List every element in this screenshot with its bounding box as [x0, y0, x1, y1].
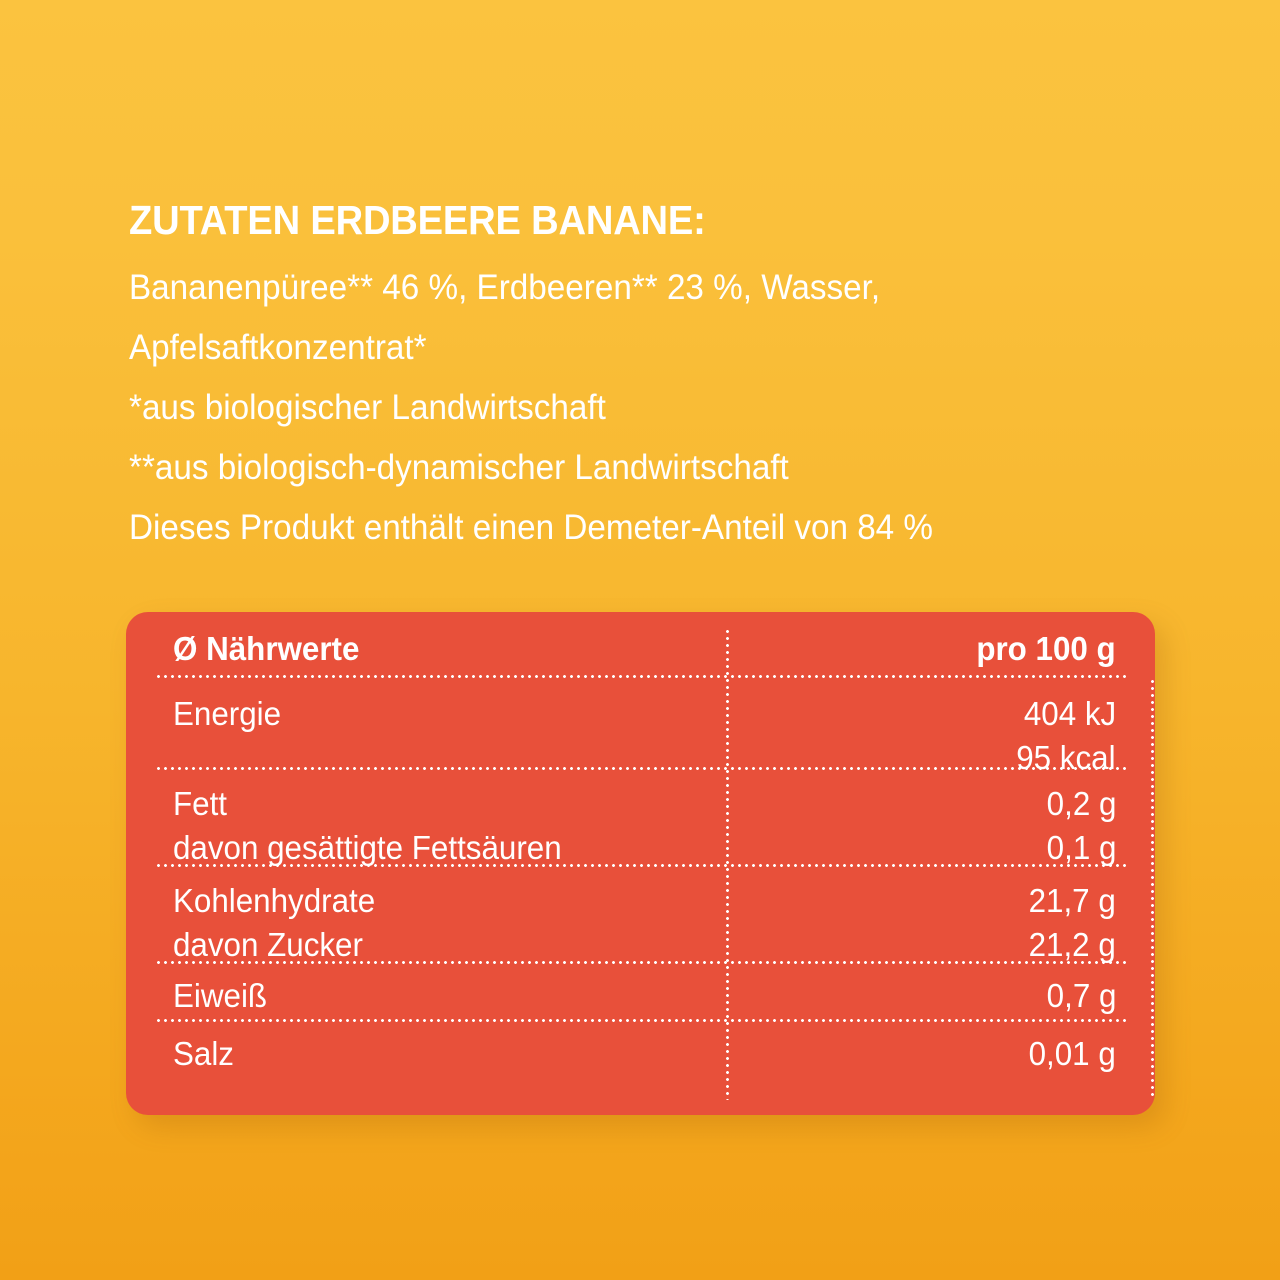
table-row: Salz 0,01 g: [155, 1022, 1126, 1080]
table-vertical-divider-right: [1151, 678, 1154, 1100]
row-label-kohlenhydrate: Kohlenhydrate: [173, 879, 375, 923]
row-value-cell: 0,01 g: [1024, 1032, 1116, 1076]
row-value-energie-kj: 404 kJ: [1024, 692, 1116, 736]
row-value-cell: 0,2 g 0,1 g: [1043, 782, 1116, 870]
row-label-eiweiss: Eiweiß: [173, 974, 267, 1018]
row-value-eiweiss: 0,7 g: [1046, 974, 1116, 1018]
table-row: Kohlenhydrate davon Zucker 21,7 g 21,2 g: [155, 867, 1126, 964]
row-label-cell: Kohlenhydrate davon Zucker: [173, 879, 386, 967]
row-value-salz: 0,01 g: [1029, 1032, 1116, 1076]
table-header-label-cell: Ø Nährwerte: [173, 630, 369, 668]
table-header-label: Ø Nährwerte: [173, 630, 359, 668]
row-label-cell: Eiweiß: [173, 974, 272, 1018]
ingredients-title: ZUTATEN ERDBEERE BANANE:: [129, 196, 1068, 244]
table-header-value-cell: pro 100 g: [969, 630, 1116, 668]
nutrition-table-card: Ø Nährwerte pro 100 g Energie 404 kJ 95 …: [126, 612, 1155, 1115]
table-row: Fett davon gesättigte Fettsäuren 0,2 g 0…: [155, 770, 1126, 867]
ingredients-list: Bananenpüree** 46 %, Erdbeeren** 23 %, W…: [129, 258, 1003, 378]
row-value-fett: 0,2 g: [1046, 782, 1116, 826]
row-value-cell: 404 kJ 95 kcal: [1011, 692, 1116, 780]
ingredients-section: ZUTATEN ERDBEERE BANANE: Bananenpüree** …: [129, 196, 1139, 558]
nutrition-table: Ø Nährwerte pro 100 g Energie 404 kJ 95 …: [155, 612, 1126, 1115]
row-label-salz: Salz: [173, 1032, 234, 1076]
row-value-gesaettigte-fettsaeuren: 0,1 g: [1046, 826, 1116, 870]
row-value-cell: 0,7 g: [1043, 974, 1116, 1018]
table-row: Energie 404 kJ 95 kcal: [155, 678, 1126, 770]
row-value-zucker: 21,2 g: [1029, 923, 1116, 967]
table-row: Eiweiß 0,7 g: [155, 964, 1126, 1022]
table-header-value: pro 100 g: [977, 630, 1116, 668]
row-value-cell: 21,7 g 21,2 g: [1024, 879, 1116, 967]
ingredients-footnote-organic: *aus biologischer Landwirtschaft: [129, 378, 1089, 438]
nutrition-label-page: ZUTATEN ERDBEERE BANANE: Bananenpüree** …: [0, 0, 1280, 1280]
row-label-energie: Energie: [173, 692, 281, 736]
row-label-zucker: davon Zucker: [173, 923, 375, 967]
row-label-fett: Fett: [173, 782, 562, 826]
row-label-cell: Fett davon gesättigte Fettsäuren: [173, 782, 582, 870]
row-value-kohlenhydrate: 21,7 g: [1029, 879, 1116, 923]
table-header-row: Ø Nährwerte pro 100 g: [155, 612, 1126, 678]
row-label-gesaettigte-fettsaeuren: davon gesättigte Fettsäuren: [173, 826, 562, 870]
ingredients-footnote-biodynamic: **aus biologisch-dynamischer Landwirtsch…: [129, 438, 1089, 498]
row-label-cell: Salz: [173, 1032, 237, 1076]
ingredients-body: Bananenpüree** 46 %, Erdbeeren** 23 %, W…: [129, 258, 1089, 558]
ingredients-footnote-demeter-share: Dieses Produkt enthält einen Demeter-Ant…: [129, 498, 1089, 558]
row-label-cell: Energie: [173, 692, 287, 736]
